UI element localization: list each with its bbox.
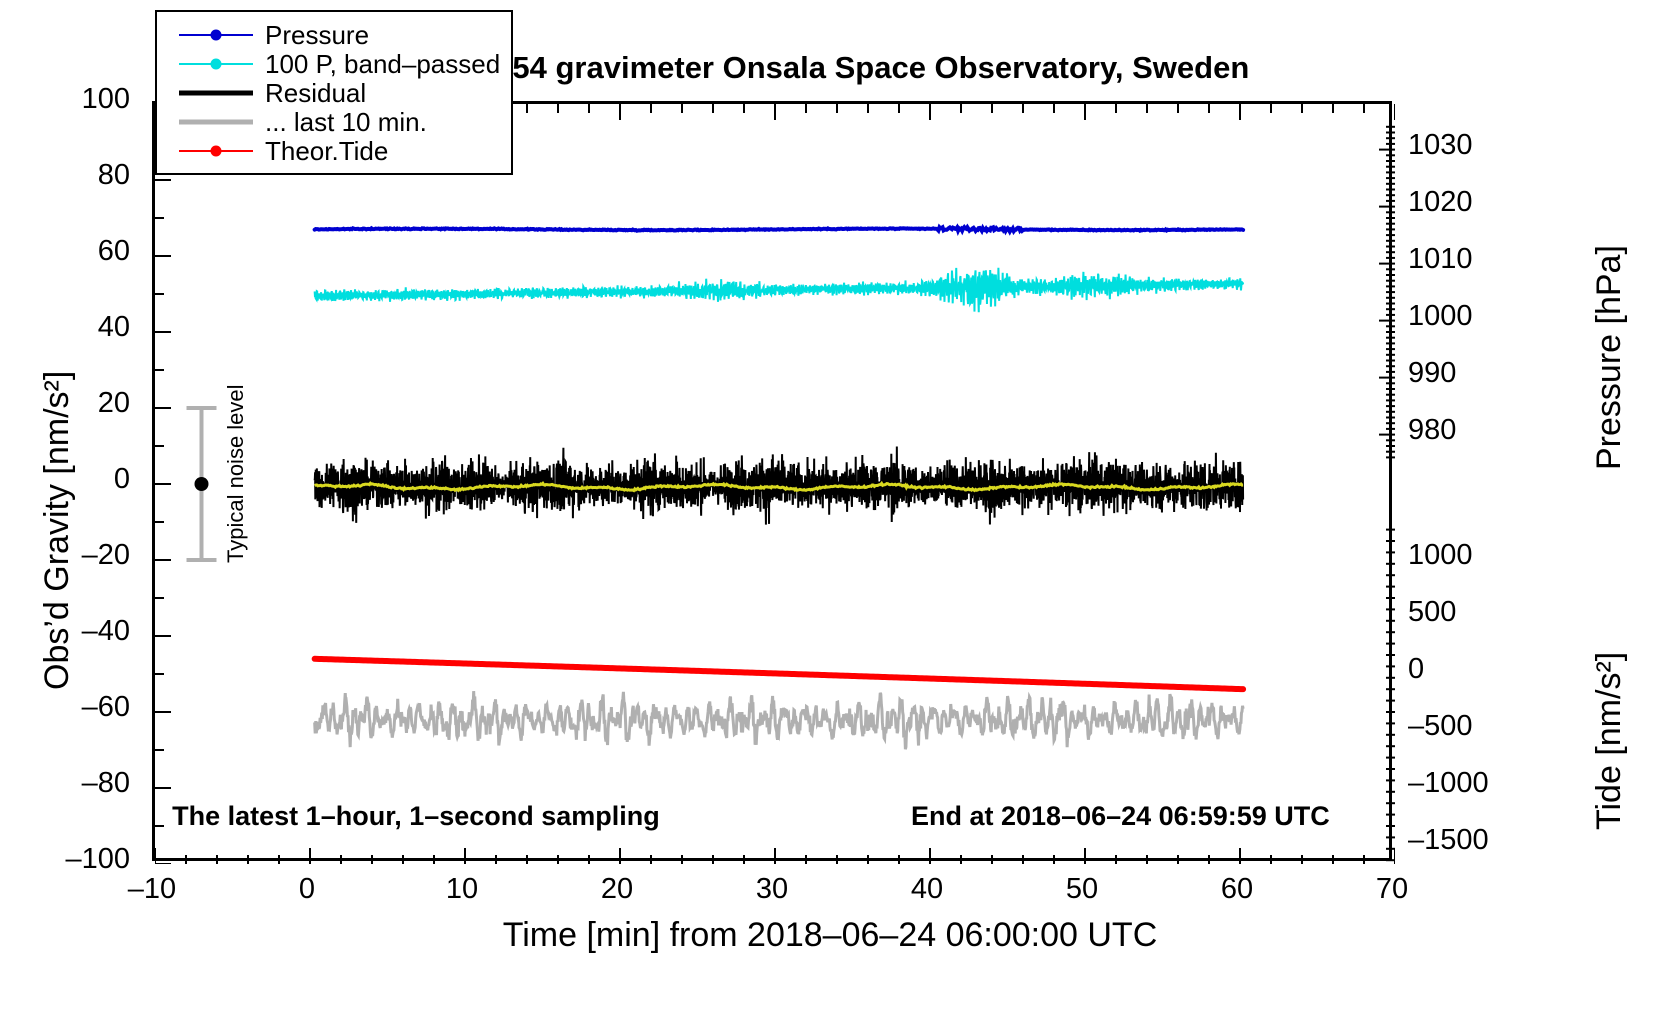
legend-label-3: ... last 10 min.	[265, 109, 427, 135]
chart-page: SCG_054 gravimeter Onsala Space Observat…	[0, 0, 1660, 1020]
noise-level-annotation: Typical noise level	[223, 384, 249, 563]
legend-swatch-icon-0	[179, 26, 253, 44]
pressure-tick-label-0: 1030	[1408, 131, 1473, 160]
y-tick-label-2: –60	[0, 693, 130, 722]
plot-canvas	[155, 104, 1395, 864]
x-tick-label-4: 30	[712, 875, 832, 904]
tide-tick-label-1: 500	[1408, 598, 1456, 627]
legend-swatch-icon-1	[179, 55, 253, 73]
tide-tick-label-2: 0	[1408, 655, 1424, 684]
y-tick-label-0: –100	[0, 845, 130, 874]
y-tick-label-7: 40	[0, 313, 130, 342]
y-tick-label-10: 100	[0, 85, 130, 114]
end-time-note: End at 2018–06–24 06:59:59 UTC	[911, 801, 1330, 832]
chart-legend[interactable]: Pressure100 P, band–passedResidual... la…	[155, 10, 513, 175]
x-tick-label-3: 20	[557, 875, 677, 904]
x-tick-label-5: 40	[867, 875, 987, 904]
x-axis-title: Time [min] from 2018–06–24 06:00:00 UTC	[0, 918, 1660, 952]
x-tick-label-1: 0	[247, 875, 367, 904]
x-tick-label-7: 60	[1177, 875, 1297, 904]
legend-label-4: Theor.Tide	[265, 138, 388, 164]
y-axis-right-pressure-title: Pressure [hPa]	[1592, 245, 1626, 470]
legend-item-0[interactable]: Pressure	[157, 20, 511, 49]
legend-label-1: 100 P, band–passed	[265, 51, 500, 77]
legend-dot-icon	[211, 58, 222, 69]
legend-label-2: Residual	[265, 80, 366, 106]
legend-swatch-icon-2	[179, 84, 253, 102]
y-tick-label-8: 60	[0, 237, 130, 266]
legend-item-2[interactable]: Residual	[157, 78, 511, 107]
y-axis-right-tide-title: Tide [nm/s²]	[1592, 652, 1626, 830]
sampling-note: The latest 1–hour, 1–second sampling	[172, 801, 660, 832]
y-axis-left-title: Obs’d Gravity [nm/s²]	[40, 371, 74, 690]
pressure-tick-label-2: 1010	[1408, 245, 1473, 274]
legend-item-4[interactable]: Theor.Tide	[157, 136, 511, 165]
pressure-tick-label-3: 1000	[1408, 302, 1473, 331]
tide-tick-label-5: –1500	[1408, 826, 1489, 855]
x-tick-label-6: 50	[1022, 875, 1142, 904]
legend-item-1[interactable]: 100 P, band–passed	[157, 49, 511, 78]
x-tick-label-2: 10	[402, 875, 522, 904]
x-tick-label-8: 70	[1332, 875, 1452, 904]
y-tick-label-1: –80	[0, 769, 130, 798]
tide-tick-label-3: –500	[1408, 712, 1473, 741]
x-tick-label-0: –10	[92, 875, 212, 904]
y-tick-label-9: 80	[0, 161, 130, 190]
tide-tick-label-4: –1000	[1408, 769, 1489, 798]
pressure-tick-label-5: 980	[1408, 416, 1456, 445]
pressure-tick-label-4: 990	[1408, 359, 1456, 388]
legend-swatch-icon-4	[179, 142, 253, 160]
legend-dot-icon	[211, 29, 222, 40]
legend-item-3[interactable]: ... last 10 min.	[157, 107, 511, 136]
legend-line-icon	[179, 119, 253, 124]
plot-area	[152, 101, 1392, 861]
legend-label-0: Pressure	[265, 22, 369, 48]
legend-swatch-icon-3	[179, 113, 253, 131]
legend-dot-icon	[211, 145, 222, 156]
tide-tick-label-0: 1000	[1408, 541, 1473, 570]
pressure-tick-label-1: 1020	[1408, 188, 1473, 217]
legend-line-icon	[179, 90, 253, 95]
